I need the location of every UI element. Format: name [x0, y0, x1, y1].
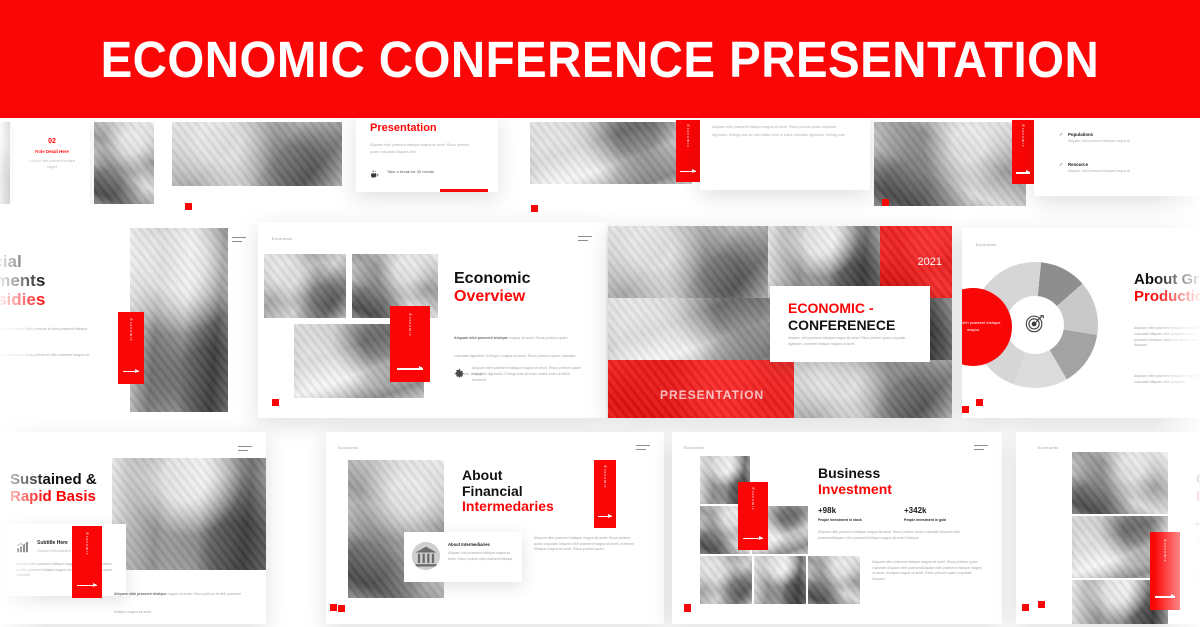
brand-label: Economic [338, 445, 359, 450]
target-icon [1024, 312, 1046, 339]
cost-body-1: Aliquam nibh praesent tristique magna si… [1196, 534, 1200, 545]
stat-value: +342k [904, 506, 946, 515]
tab-label: Economic [751, 488, 755, 511]
slide-top-checklist[interactable]: ✓ Populations Aliquam nibh praesent tris… [1034, 114, 1200, 196]
slide-top-photo3[interactable] [874, 122, 1026, 206]
stat-value: +98k [818, 506, 862, 515]
tab-label: Economic [129, 318, 133, 341]
subtitle-card-title: Subtitle Here [37, 540, 68, 546]
checklist-body: Aliquam nibh praesent tristique magna si… [1068, 139, 1188, 143]
gross-body-2: Aliquam nibh praesent tristique magna si… [1134, 374, 1200, 386]
financial-body-2: Aliquam nibh praesent tristique magna si… [0, 353, 90, 365]
intermediaries-card-body: Aliquam nibh praesent tristique magna si… [448, 551, 514, 562]
menu-icon[interactable] [974, 445, 988, 452]
check-icon: ✓ [1059, 132, 1063, 138]
arrow-icon [397, 368, 423, 369]
checklist-title: Resource [1068, 162, 1188, 167]
red-circle-text: Aliquam nibh praesent tristique magna [962, 320, 1006, 334]
sustained-title: Sustained & Rapid Basis [10, 472, 97, 506]
red-arrow-tab[interactable]: Economic [1150, 532, 1180, 610]
red-arrow-tab[interactable]: Economic [390, 306, 430, 382]
subtitle-card: Subtitle Here Aliquam nibh praesent Aliq… [4, 524, 126, 596]
role-detail-card: 02 Role Detail Here Aliquam nibh praesen… [14, 122, 90, 204]
stat-label: People investment in gold [904, 518, 946, 522]
gross-title: About Gross Production [1134, 272, 1200, 306]
gear-icon [454, 366, 465, 377]
checklist-item[interactable]: ✓ Populations Aliquam nibh praesent tris… [1068, 132, 1188, 143]
arrow-icon [743, 538, 762, 539]
red-arrow-tab[interactable]: Economic [118, 312, 144, 384]
presentation-title: Presentation [370, 122, 437, 134]
tab-label: Economic [85, 532, 89, 555]
page-title: ECONOMIC CONFERENCE PRESENTATION [101, 30, 1100, 89]
arrow-icon [1155, 596, 1174, 597]
investment-body-2: Aliquam nibh praesent tristique magna si… [872, 560, 982, 583]
brand-label: Economic [272, 236, 293, 241]
role-title: Role Detail Here [14, 149, 90, 154]
overview-title: Economic Overview [454, 270, 530, 306]
menu-icon[interactable] [578, 236, 592, 243]
financial-title: Financial Instruments & Subsidies [0, 252, 118, 309]
red-square-marker [684, 604, 691, 611]
red-square-marker [330, 604, 337, 611]
tab-label: Economic [686, 124, 690, 147]
tab-label: Economic [603, 466, 607, 489]
red-square-marker [1022, 604, 1029, 611]
cost-kicker: Production [1196, 522, 1200, 527]
slide-top-presentation[interactable]: Presentation Aliquam nibh praesent trist… [356, 114, 498, 192]
red-arrow-tab[interactable]: Economic [1012, 120, 1034, 184]
slide-mid-financial-text: Financial Instruments & Subsidies Aliqua… [0, 252, 118, 364]
overview-body-lead: Aliquam nibh praesent tristique [454, 336, 508, 340]
slide-bottom-sustained[interactable]: Sustained & Rapid Basis Subtitle Here Al… [0, 432, 266, 624]
brand-label: Economic [1038, 445, 1059, 450]
slide-mid-overview[interactable]: Economic Economic Economic Overview Aliq… [258, 222, 606, 418]
red-square-marker [962, 406, 969, 413]
arrow-icon [1016, 172, 1030, 173]
subtitle-card-sub: Aliquam nibh praesent [37, 549, 71, 553]
photo [808, 556, 860, 604]
photo [794, 360, 952, 418]
checklist-item[interactable]: ✓ Resource Aliquam nibh praesent tristiq… [1068, 162, 1188, 173]
photo [700, 556, 752, 604]
slide-bottom-cost[interactable]: Economic Economic Cost Demand Production… [1016, 432, 1200, 624]
gross-body-1: Aliquam nibh praesent tristique magna si… [1134, 326, 1200, 349]
stat-block: +98k People investment in stock [818, 506, 862, 522]
photo [0, 122, 10, 204]
red-arrow-tab[interactable]: Economic [72, 526, 102, 598]
photo [754, 556, 806, 604]
intermediaries-card-title: About Intermediaries [448, 542, 490, 547]
red-square-marker [976, 399, 983, 406]
red-square-marker [1038, 601, 1045, 608]
arrow-icon [123, 371, 140, 372]
slide-top-paragraph[interactable]: Aliquam nibh praesent tristique magna si… [700, 114, 870, 190]
red-square-marker [185, 203, 192, 210]
intermediaries-card: About Intermediaries Aliquam nibh praese… [404, 532, 522, 582]
investment-title: Business Investment [818, 466, 892, 497]
slide-bottom-investment[interactable]: Economic Economic Business Investment +9… [672, 432, 1002, 624]
photo [530, 122, 692, 184]
financial-body-1: Aliquam nibh praesent tristique magna si… [0, 327, 90, 339]
overlay-word: PRESENTATION [660, 388, 764, 402]
slide-top-role[interactable]: 02 Role Detail Here Aliquam nibh praesen… [0, 122, 154, 204]
slide-mid-gross[interactable]: Economic Aliquam nibh praesent tristique… [962, 228, 1200, 418]
photo [172, 122, 342, 186]
red-square-marker [531, 205, 538, 212]
red-square-marker [272, 399, 279, 406]
arrow-icon [598, 516, 612, 517]
presentation-preview-page: 02 Role Detail Here Aliquam nibh praesen… [0, 0, 1200, 627]
menu-icon[interactable] [232, 237, 246, 244]
arrow-icon [77, 585, 96, 586]
photo [94, 122, 154, 204]
photo [874, 122, 1026, 206]
year-badge: 2021 [918, 256, 942, 268]
checklist-title: Populations [1068, 132, 1188, 137]
presentation-body: Aliquam nibh praesent tristique magna si… [370, 142, 478, 155]
cost-title: Cost Demand [1196, 472, 1200, 506]
photo [1072, 452, 1168, 514]
coffee-cup-icon [370, 166, 379, 175]
slide-top-photoband[interactable] [172, 122, 342, 186]
header-banner: ECONOMIC CONFERENCE PRESENTATION [0, 0, 1200, 118]
red-arrow-tab[interactable]: Economic [676, 120, 700, 182]
bar-chart-icon [16, 540, 30, 559]
hero-body: Aliquam nibh praesent tristique magna si… [788, 336, 916, 347]
photo [130, 228, 228, 412]
checklist-body: Aliquam nibh praesent tristique magna si… [1068, 169, 1188, 173]
red-arrow-tab[interactable]: Economic [738, 482, 768, 550]
overview-body-2: Aliquam nibh praesent tristique magna si… [472, 366, 584, 383]
photo-red-tinted: PRESENTATION [608, 360, 794, 418]
intermediaries-body: Aliquam nibh praesent tristique magna si… [534, 536, 634, 553]
check-icon: ✓ [1059, 162, 1063, 168]
sustained-footer-lead: Aliquam nibh praesent tristique [114, 592, 167, 596]
donut-center [1006, 296, 1064, 354]
menu-icon[interactable] [238, 446, 252, 453]
presentation-note: Take a break for 30 minuts [387, 169, 434, 174]
brand-label: Economic [976, 242, 997, 247]
slide-top-photo2[interactable] [530, 122, 692, 184]
stat-block: +342k People investment in gold [904, 506, 946, 522]
photo [264, 254, 346, 318]
stat-label: People investment in stock [818, 518, 862, 522]
tab-label: Economic [1021, 125, 1025, 148]
red-square-marker [882, 199, 889, 206]
hero-title-card: ECONOMIC - CONFERENECE Aliquam nibh prae… [770, 286, 930, 362]
tab-label: Economic [1163, 540, 1167, 563]
menu-icon[interactable] [636, 445, 650, 452]
tab-label: Economic [408, 313, 412, 336]
photo [112, 458, 266, 570]
bank-building-icon [412, 542, 440, 570]
cost-body-2: Aliquam nibh praesent tristique magna si… [1196, 572, 1200, 583]
red-square-marker [338, 605, 345, 612]
role-number: 02 [14, 138, 90, 145]
red-underline [440, 189, 488, 192]
investment-body-1: Aliquam nibh praesent tristique magna si… [818, 530, 982, 541]
arrow-icon [680, 171, 695, 172]
hero-title: ECONOMIC - CONFERENECE [788, 300, 895, 334]
paragraph-body: Aliquam nibh praesent tristique magna si… [712, 124, 846, 139]
slide-mid-photo-left[interactable] [130, 228, 228, 412]
role-body: Aliquam nibh praesent tristique magna [14, 159, 90, 171]
intermediaries-title: About Financial Intermedaries [462, 468, 554, 515]
photo [608, 226, 768, 298]
slide-mid-hero[interactable]: 2021 PRESENTATION ECONOMIC - CONFERENECE… [608, 226, 952, 418]
slide-bottom-intermediaries[interactable]: Economic About Financial Intermedaries E… [326, 432, 664, 624]
red-arrow-tab[interactable]: Economic [594, 460, 616, 528]
brand-label: Economic [684, 445, 705, 450]
